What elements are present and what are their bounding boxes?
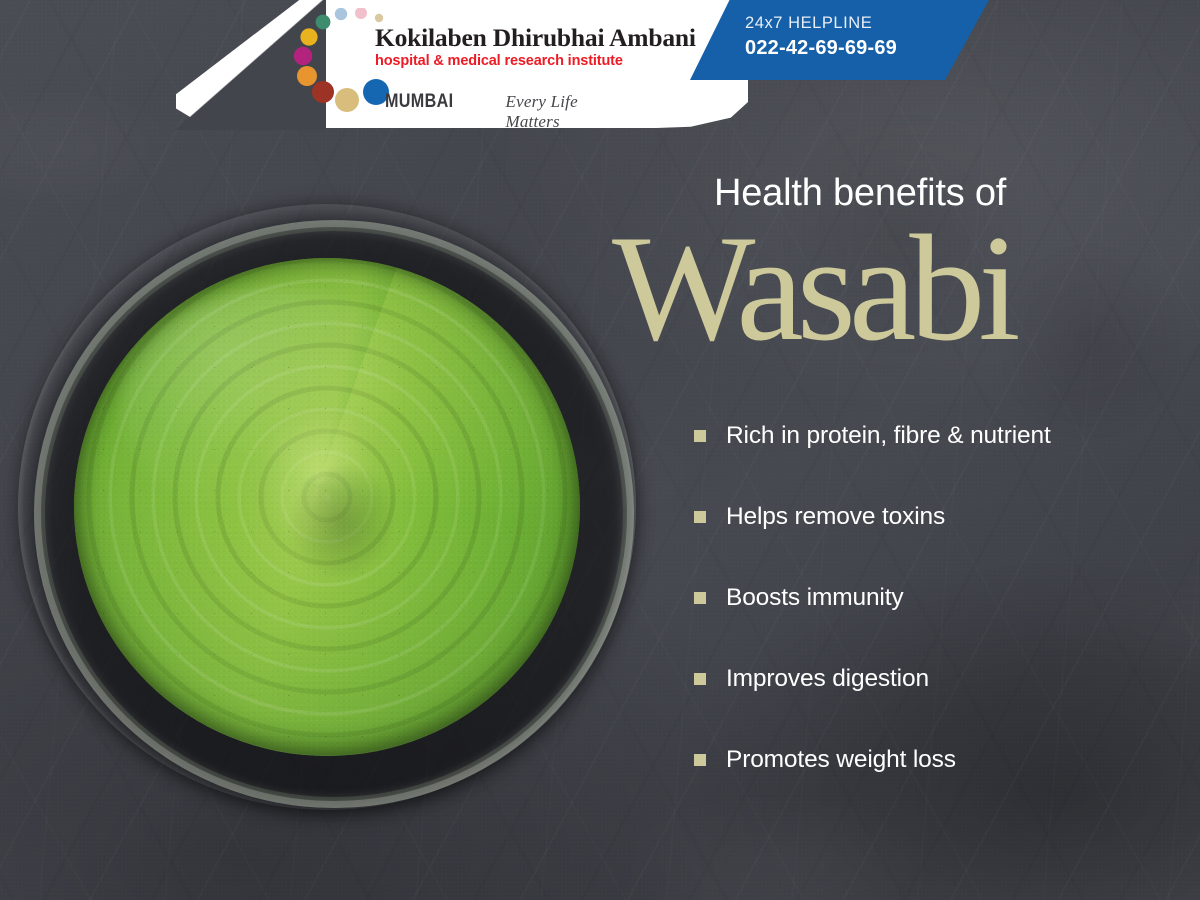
list-item-label: Boosts immunity	[726, 584, 903, 612]
bullet-square-icon	[694, 511, 706, 523]
list-item: Improves digestion	[694, 665, 1164, 746]
logo-text-group: Kokilaben Dhirubhai Ambani hospital & me…	[375, 24, 635, 70]
list-item-label: Promotes weight loss	[726, 746, 956, 774]
bullet-square-icon	[694, 430, 706, 442]
page-title: Wasabi	[612, 212, 1014, 364]
bullet-square-icon	[694, 673, 706, 685]
helpline-phone-number[interactable]: 022-42-69-69-69	[745, 35, 975, 61]
helpline-label: 24x7 HELPLINE	[745, 12, 975, 34]
list-item: Helps remove toxins	[694, 503, 1164, 584]
infographic-poster: 24x7 HELPLINE 022-42-69-69-69 Kokilaben …	[0, 0, 1200, 900]
helpline-text-group: 24x7 HELPLINE 022-42-69-69-69	[745, 12, 975, 61]
logo-bottom-row: MUMBAI Every Life Matters	[385, 91, 635, 132]
logo-tagline: Every Life Matters	[506, 92, 636, 132]
list-item: Rich in protein, fibre & nutrient	[694, 422, 1164, 503]
paste-inner-shadow	[74, 258, 580, 756]
bullet-square-icon	[694, 592, 706, 604]
logo-city: MUMBAI	[385, 91, 453, 113]
wasabi-bowl-photo	[18, 196, 638, 816]
benefits-list: Rich in protein, fibre & nutrient Helps …	[694, 422, 1164, 827]
list-item-label: Rich in protein, fibre & nutrient	[726, 422, 1051, 450]
logo-hospital-name: Kokilaben Dhirubhai Ambani	[375, 24, 635, 51]
list-item: Promotes weight loss	[694, 746, 1164, 827]
wasabi-paste	[74, 258, 580, 756]
bullet-square-icon	[694, 754, 706, 766]
logo-hospital-subtitle: hospital & medical research institute	[375, 52, 623, 70]
hospital-logo[interactable]: Kokilaben Dhirubhai Ambani hospital & me…	[283, 8, 633, 120]
list-item: Boosts immunity	[694, 584, 1164, 665]
list-item-label: Improves digestion	[726, 665, 929, 693]
list-item-label: Helps remove toxins	[726, 503, 945, 531]
